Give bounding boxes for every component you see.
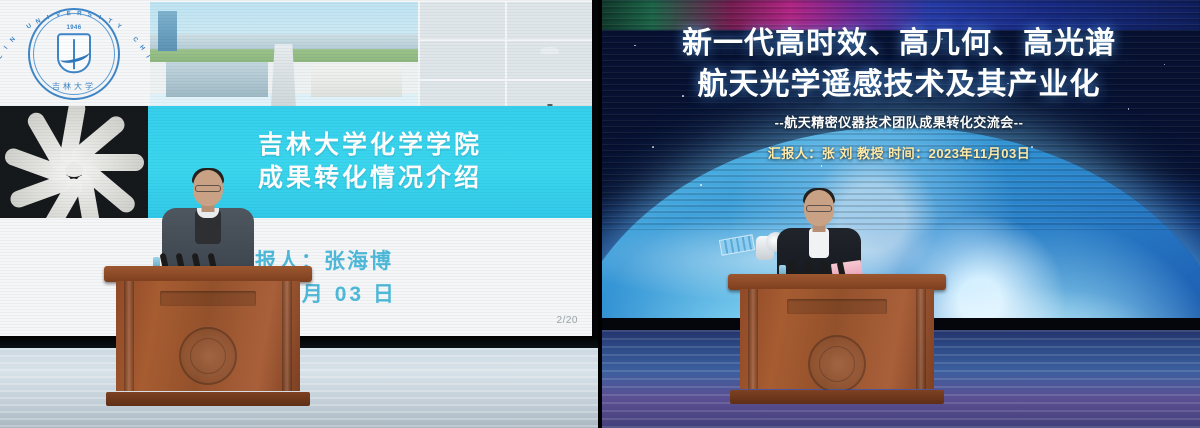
right-slide-subtitle: --航天精密仪器技术团队成果转化交流会-- [775, 112, 1024, 131]
logo-arc-text: JILIN UNIVERSITY CHINA [22, 2, 126, 106]
campus-central-road [271, 44, 297, 115]
thumbnail-item [420, 41, 505, 78]
campus-building-left [166, 62, 268, 97]
campus-thumbnail-grid [420, 2, 592, 118]
left-podium [110, 266, 306, 406]
left-podium-desktop [104, 266, 312, 282]
teamwork-hands-photo [0, 106, 148, 218]
right-podium [734, 274, 940, 404]
right-podium-plaque [787, 299, 888, 314]
left-podium-base [106, 392, 310, 406]
campus-aerial-photo [150, 2, 418, 118]
right-slide-title-line2: 航天光学遥感技术及其产业化 [698, 65, 1101, 104]
right-presenter-line: 汇报人：张 刘 教授 时间：2023年11月03日 [768, 143, 1030, 162]
podium-column [916, 289, 926, 389]
podium-column [282, 281, 292, 391]
podium-column [748, 289, 758, 389]
right-speaker-shirt [809, 228, 829, 258]
left-podium-body [116, 281, 300, 391]
satellite-solar-panel-left [719, 234, 755, 256]
thumbnail-item [507, 41, 592, 78]
left-presentation-photo: 1946 吉林大学 JILIN UNIVERSITY CHINA [0, 0, 598, 428]
left-slide-title-line2: 成果转化情况介绍 [258, 164, 482, 193]
right-podium-emblem [808, 335, 866, 393]
right-speaker-glasses-icon [806, 205, 832, 212]
panel-divider [598, 0, 602, 428]
thumbnail-item [507, 2, 592, 39]
campus-building-right [311, 65, 402, 97]
left-podium-emblem [179, 327, 237, 385]
podium-column [124, 281, 134, 391]
right-podium-body [740, 289, 934, 389]
right-presentation-photo: 新一代高时效、高几何、高光谱 航天光学遥感技术及其产业化 --航天精密仪器技术团… [598, 0, 1200, 428]
photo-collage: 1946 吉林大学 JILIN UNIVERSITY CHINA [0, 0, 1200, 428]
right-slide-title-line1: 新一代高时效、高几何、高光谱 [682, 24, 1116, 63]
left-page-indicator: 2/20 [557, 315, 578, 326]
right-projection-screen: 新一代高时效、高几何、高光谱 航天光学遥感技术及其产业化 --航天精密仪器技术团… [598, 0, 1200, 318]
left-slide-title-line1: 吉林大学化学学院 [258, 131, 482, 160]
thumbnail-dome [540, 47, 559, 54]
left-speaker-glasses-icon [195, 185, 221, 192]
thumbnail-item [420, 2, 505, 39]
left-podium-plaque [160, 291, 256, 306]
right-podium-desktop [728, 274, 946, 290]
jilin-university-logo-icon: 1946 吉林大学 JILIN UNIVERSITY CHINA [22, 2, 126, 106]
right-podium-base [730, 390, 944, 404]
right-slide-text: 新一代高时效、高几何、高光谱 航天光学遥感技术及其产业化 --航天精密仪器技术团… [598, 24, 1200, 162]
campus-tower [158, 11, 177, 50]
